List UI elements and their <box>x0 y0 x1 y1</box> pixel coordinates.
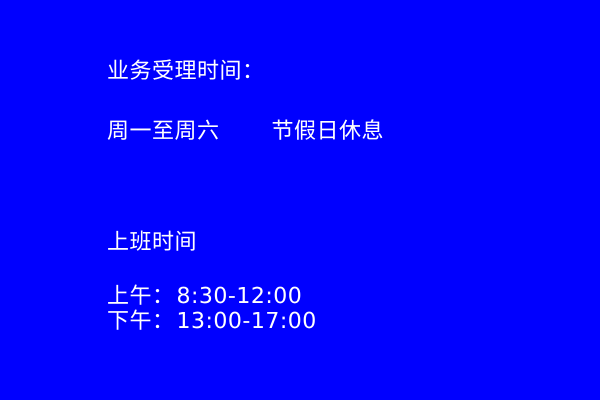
morning-hours-value: 8:30-12:00 <box>175 285 303 309</box>
afternoon-hours-label: 下午： <box>107 309 175 334</box>
morning-hours-label: 上午： <box>107 284 175 309</box>
afternoon-hours-row: 下午：13:00-17:00 <box>107 310 317 334</box>
business-hours-notice-board: 业务受理时间： 周一至周六节假日休息 上班时间 上午：8:30-12:00 下午… <box>0 0 600 400</box>
holiday-note-text: 节假日休息 <box>272 119 385 144</box>
working-hours-title: 上班时间 <box>107 231 197 255</box>
afternoon-hours-value: 13:00-17:00 <box>175 310 317 334</box>
service-days-row: 周一至周六节假日休息 <box>107 120 384 144</box>
service-weekdays-text: 周一至周六 <box>107 119 220 144</box>
morning-hours-row: 上午：8:30-12:00 <box>107 285 302 309</box>
service-hours-title: 业务受理时间： <box>107 60 265 84</box>
